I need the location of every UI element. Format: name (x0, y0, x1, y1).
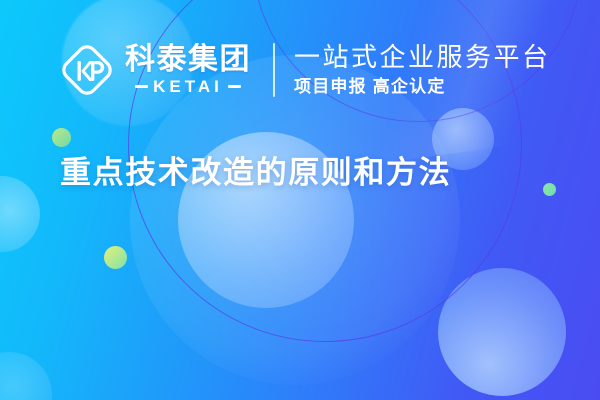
decor-circle-left (0, 176, 40, 252)
promo-banner: 科泰集团 KETAI 一站式企业服务平台 项目申报 高企认定 重点技术改造的原则… (0, 0, 600, 400)
decor-dot-green-right (543, 183, 556, 196)
banner-header: 科泰集团 KETAI 一站式企业服务平台 项目申报 高企认定 (58, 36, 551, 104)
decor-circle-halo (130, 55, 460, 385)
header-divider (273, 43, 275, 97)
page-title: 重点技术改造的原则和方法 (60, 154, 451, 191)
decor-circle-bottom-right (438, 268, 566, 396)
logo-rule-left-icon (135, 85, 148, 88)
brand-logo-wordmark: 科泰集团 KETAI (125, 45, 251, 96)
tagline-block: 一站式企业服务平台 项目申报 高企认定 (294, 43, 551, 97)
tagline-secondary: 项目申报 高企认定 (294, 76, 551, 97)
brand-logo[interactable]: 科泰集团 KETAI (58, 36, 251, 104)
brand-name-cn: 科泰集团 (125, 45, 251, 76)
decor-circle-bottom-left (0, 352, 52, 400)
ketai-diamond-kp-icon (58, 41, 116, 99)
brand-name-en-row: KETAI (125, 78, 251, 95)
tagline-primary: 一站式企业服务平台 (294, 43, 551, 72)
decor-dot-green-left (52, 128, 71, 147)
logo-rule-right-icon (228, 85, 241, 88)
decor-dot-green-mid (104, 246, 127, 269)
brand-name-en: KETAI (153, 78, 223, 95)
